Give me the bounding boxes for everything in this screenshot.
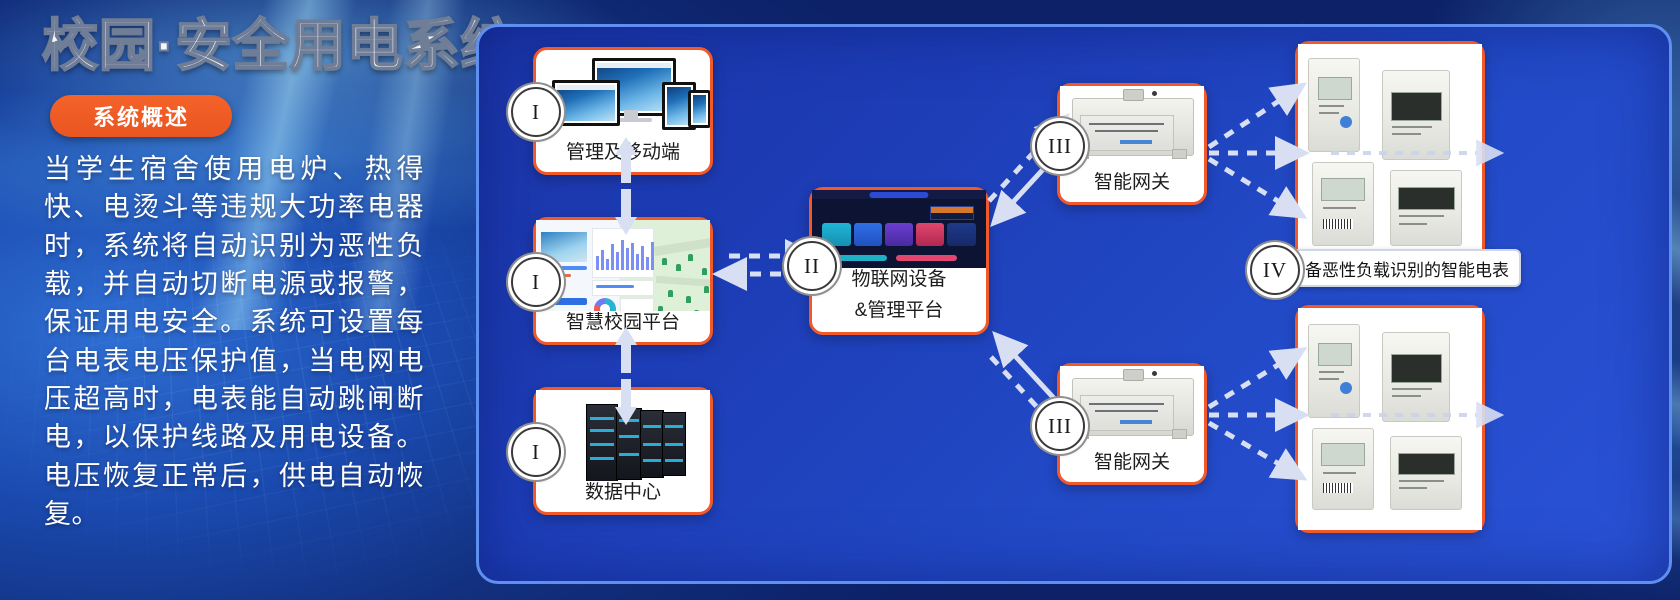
badge-text: I [532,100,540,125]
badge-text: III [1048,414,1072,439]
badge-roman-i-campus: I [511,257,561,307]
meter-label-text: 具备恶性负载识别的智能电表 [1288,256,1509,281]
badge-roman-ii-iot: II [787,241,837,291]
badge-text: III [1048,134,1072,159]
page-title: 校园·安全用电系统 [42,18,518,74]
diagram-connectors [479,27,1663,575]
badge-text: I [532,270,540,295]
badge-roman-iii-gateway-bottom: III [1035,401,1085,451]
badge-roman-i-admin: I [511,87,561,137]
badge-roman-i-datacenter: I [511,427,561,477]
badge-roman-iv-meter: IV [1250,245,1300,295]
hero-column: 校园·安全用电系统 系统概述 当学生宿舍使用电炉、热得快、电烫斗等违规大功率电器… [0,0,470,600]
poster-root: 校园·安全用电系统 系统概述 当学生宿舍使用电炉、热得快、电烫斗等违规大功率电器… [0,0,1680,600]
hero-description: 当学生宿舍使用电炉、热得快、电烫斗等违规大功率电器时，系统将自动识别为恶性负载，… [44,150,424,533]
badge-text: I [532,440,540,465]
badge-roman-iii-gateway-top: III [1035,121,1085,171]
badge-text: IV [1263,258,1287,283]
architecture-diagram-panel: 管理及移动端 I [476,24,1672,584]
system-overview-label: 系统概述 [93,100,189,132]
system-overview-badge: 系统概述 [50,95,232,137]
badge-text: II [804,254,820,279]
